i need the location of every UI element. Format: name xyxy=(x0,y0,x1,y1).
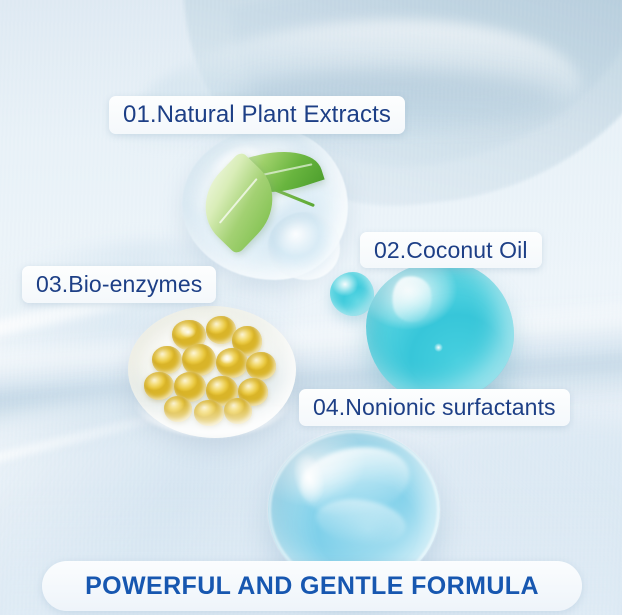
cyan-gel-droplet-large xyxy=(366,262,514,402)
water-gel-blob-lobe xyxy=(268,212,340,280)
oil-bead xyxy=(144,372,174,400)
ingredient-label-02: 02.Coconut Oil xyxy=(360,232,542,268)
oil-bead xyxy=(246,352,276,380)
ingredient-label-03: 03.Bio-enzymes xyxy=(22,266,216,303)
ingredient-label-01-text: 01.Natural Plant Extracts xyxy=(123,101,391,129)
oil-bead xyxy=(216,348,248,378)
formula-banner-text: POWERFUL AND GENTLE FORMULA xyxy=(85,572,539,601)
ingredient-label-01: 01.Natural Plant Extracts xyxy=(109,96,405,134)
ingredient-label-04: 04.Nonionic surfactants xyxy=(299,389,570,426)
ingredient-label-03-text: 03.Bio-enzymes xyxy=(36,271,202,298)
ingredient-label-02-text: 02.Coconut Oil xyxy=(374,237,528,264)
formula-banner: POWERFUL AND GENTLE FORMULA xyxy=(42,561,582,611)
oil-bead-sheen xyxy=(180,326,196,338)
oil-bead xyxy=(152,346,182,374)
ingredient-label-04-text: 04.Nonionic surfactants xyxy=(313,394,556,421)
oil-bead-sheen xyxy=(220,354,234,364)
product-ingredient-poster: 01.Natural Plant Extracts 02.Coconut Oil… xyxy=(0,0,622,615)
